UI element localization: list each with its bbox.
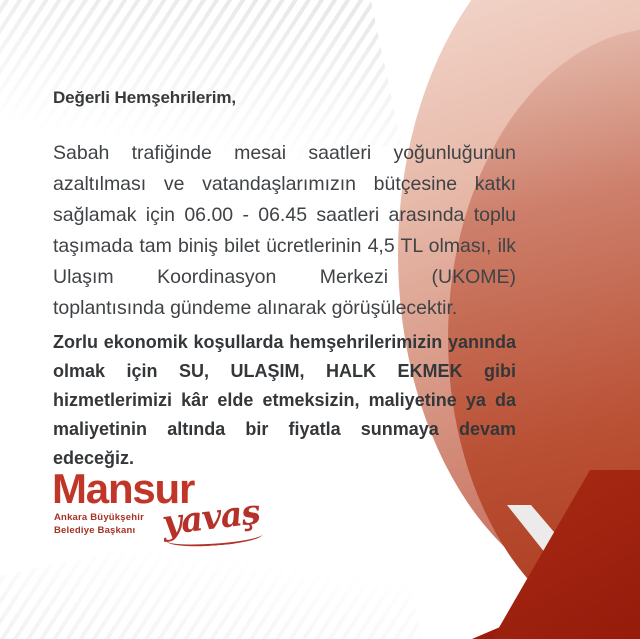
logo-subtitle-line-1: Ankara Büyükşehir — [54, 512, 144, 525]
greeting-heading: Değerli Hemşehrilerim, — [53, 88, 236, 108]
logo-subtitle-line-2: Belediye Başkanı — [54, 525, 144, 538]
announcement-poster: Değerli Hemşehrilerim, Sabah trafiğinde … — [0, 0, 640, 639]
announcement-paragraph-2: Zorlu ekonomik koşullarda hemşehrilerimi… — [53, 328, 516, 473]
logo-subtitle: Ankara Büyükşehir Belediye Başkanı — [54, 512, 144, 537]
announcement-paragraph-1: Sabah trafiğinde mesai saatleri yoğunluğ… — [53, 138, 516, 324]
mansur-yavas-logo: Mansur Ankara Büyükşehir Belediye Başkan… — [52, 468, 282, 548]
